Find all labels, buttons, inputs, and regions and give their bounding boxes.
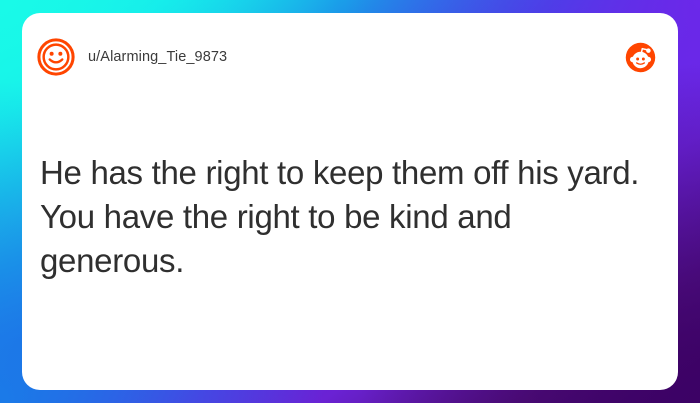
username-label: u/Alarming_Tie_9873	[88, 49, 227, 65]
post-header: u/Alarming_Tie_9873	[22, 13, 678, 101]
post-card: u/Alarming_Tie_9873 He has the right to …	[22, 13, 678, 390]
smiley-face-avatar-icon[interactable]	[37, 38, 75, 76]
reddit-post-screenshot: u/Alarming_Tie_9873 He has the right to …	[0, 0, 700, 403]
post-body-text: He has the right to keep them off his ya…	[40, 151, 650, 283]
reddit-snoo-logo-icon[interactable]	[625, 42, 656, 73]
